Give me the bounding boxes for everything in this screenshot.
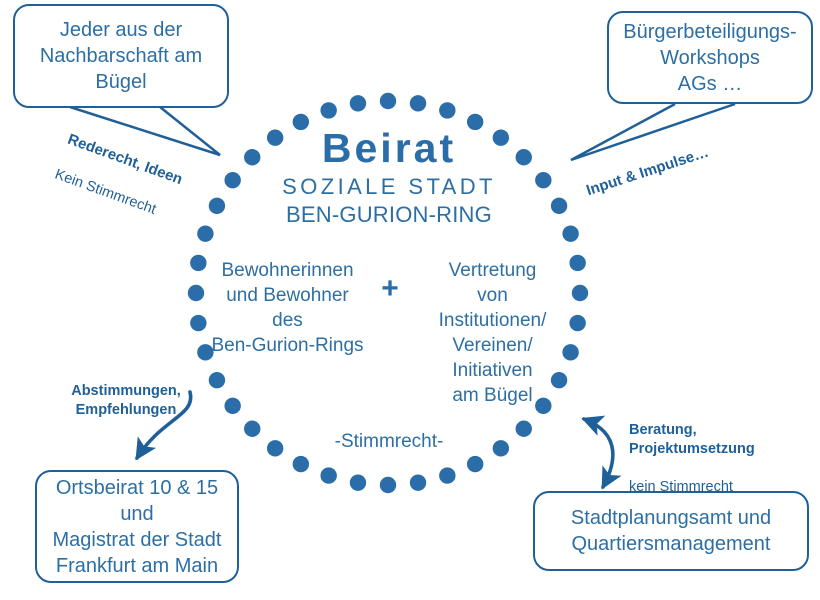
- arrow-caption-beratung-bold: Beratung, Projektumsetzung: [629, 421, 799, 459]
- ring-dot: [562, 225, 578, 241]
- subtitle-ben-gurion-ring: BEN-GURION-RING: [243, 201, 535, 229]
- voting-right-note: -Stimmrecht-: [243, 430, 535, 454]
- arrow-beratung: [584, 419, 613, 487]
- speech-bubble-neighbourhood: Jeder aus der Nachbarschaft am Bügel: [13, 4, 229, 108]
- speech-bubble-neighbourhood-text: Jeder aus der Nachbarschaft am Bügel: [32, 17, 210, 95]
- ring-dot: [380, 93, 396, 109]
- ring-dot: [380, 477, 396, 493]
- member-group-institutions: Vertretung von Institutionen/ Vereinen/ …: [410, 258, 575, 408]
- ring-dot: [439, 467, 455, 483]
- member-composition: Bewohnerinnen und Bewohner des Ben-Gurio…: [204, 258, 576, 408]
- ring-dot: [188, 285, 204, 301]
- ring-dot: [209, 198, 225, 214]
- arrow-caption-abstimmungen: Abstimmungen, Empfehlungen: [46, 363, 206, 439]
- ring-dot: [410, 474, 426, 490]
- ring-dot: [320, 467, 336, 483]
- page-title: Beirat: [243, 125, 535, 171]
- arrow-caption-beratung-regular: kein Stimmrecht: [629, 478, 799, 497]
- ring-dot: [439, 102, 455, 118]
- speech-bubble-participation: Bürgerbeteiligungs- Workshops AGs …: [607, 11, 813, 104]
- member-group-residents: Bewohnerinnen und Bewohner des Ben-Gurio…: [205, 258, 370, 358]
- outcome-box-ortsbeirat-text: Ortsbeirat 10 & 15 und Magistrat der Sta…: [43, 475, 232, 579]
- ring-dot: [350, 95, 366, 111]
- ring-dot: [320, 102, 336, 118]
- speech-bubble-participation-text: Bürgerbeteiligungs- Workshops AGs …: [615, 19, 804, 97]
- subtitle-soziale-stadt: SOZIALE STADT: [243, 173, 535, 201]
- ring-dot: [350, 474, 366, 490]
- ring-dot: [197, 225, 213, 241]
- diagram-canvas: Jeder aus der Nachbarschaft am Bügel Red…: [0, 0, 820, 600]
- ring-dot: [410, 95, 426, 111]
- outcome-box-ortsbeirat: Ortsbeirat 10 & 15 und Magistrat der Sta…: [35, 470, 239, 583]
- ring-dot: [551, 198, 567, 214]
- plus-icon: +: [370, 258, 410, 302]
- arrow-caption-beratung: Beratung, Projektumsetzung kein Stimmrec…: [629, 402, 799, 516]
- ring-dot: [535, 172, 551, 188]
- arrow-caption-abstimmungen-bold: Abstimmungen, Empfehlungen: [46, 382, 206, 420]
- ring-dot: [224, 172, 240, 188]
